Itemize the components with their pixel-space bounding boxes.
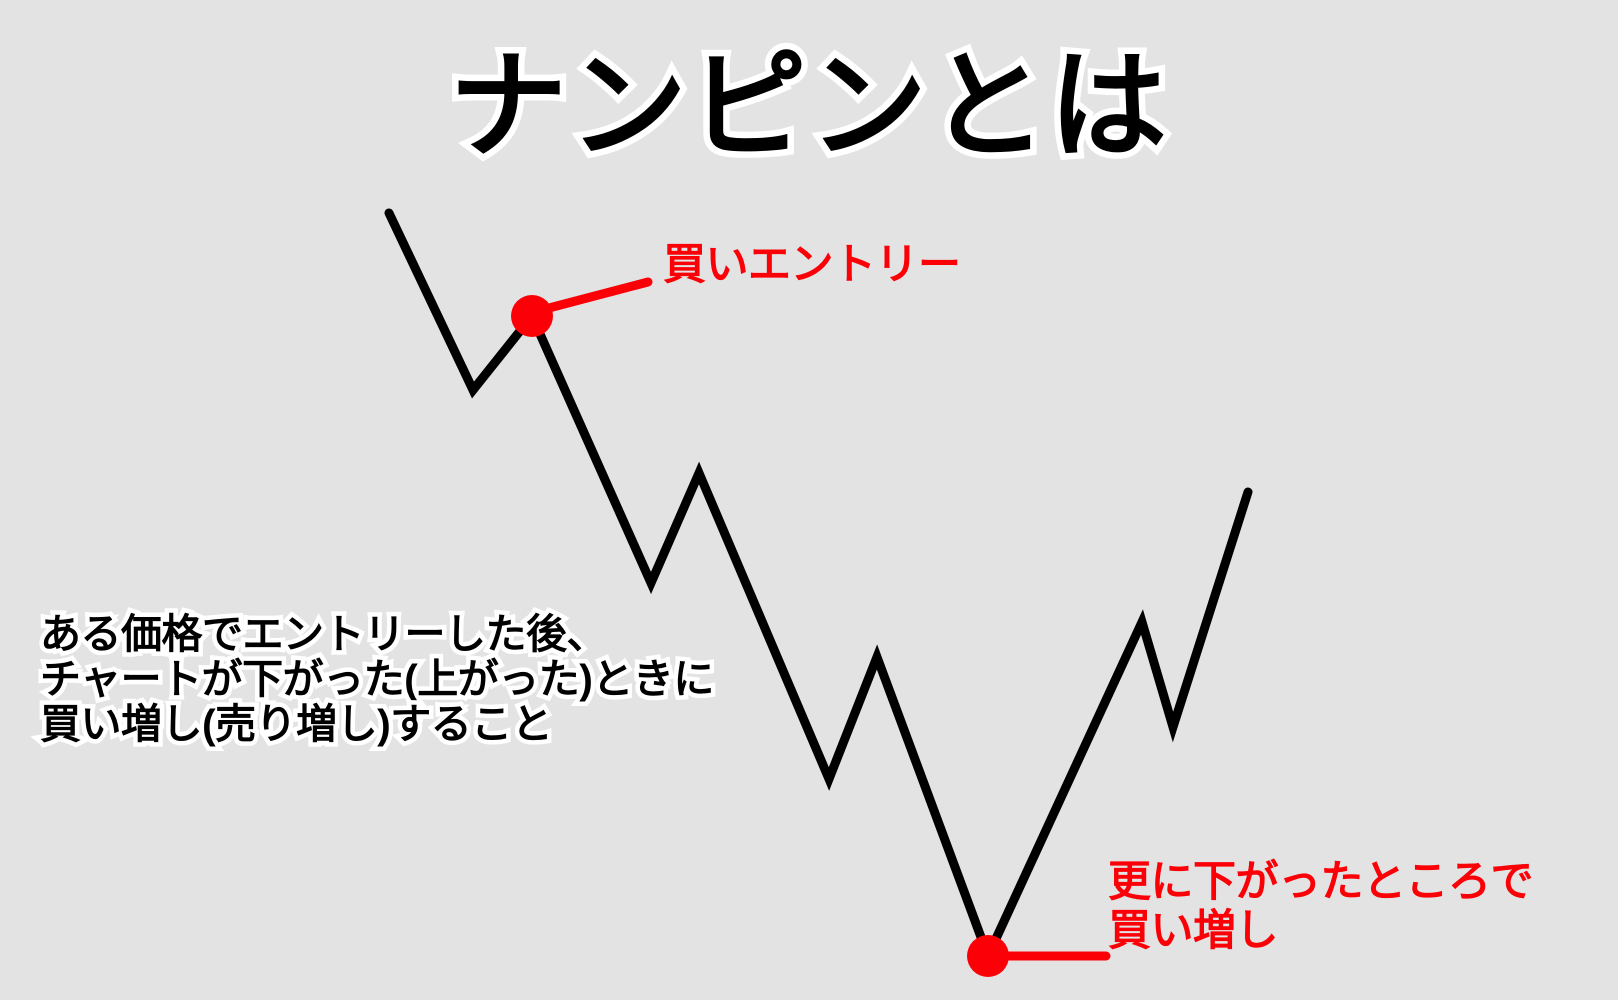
description-line-1: ある価格でエントリーした後、: [40, 612, 714, 657]
description-line-3: 買い増し(売り増し)すること: [40, 702, 714, 747]
description-line-2: チャートが下がった(上がった)ときに: [40, 657, 714, 702]
add-buy-marker-dot[interactable]: [967, 935, 1009, 977]
annotation-add-buy-line-1: 更に下がったところで: [1108, 858, 1533, 907]
price-chart: [0, 0, 1618, 1000]
annotation-add-buy: 更に下がったところで 買い増し: [1108, 858, 1533, 956]
annotation-buy-entry: 買いエントリー: [663, 241, 961, 289]
description-block: ある価格でエントリーした後、 チャートが下がった(上がった)ときに 買い増し(売…: [40, 612, 714, 747]
buy-entry-leader-line: [549, 282, 648, 308]
infographic-canvas: ナンピンとは ある価格でエントリーした後、 チャートが下がった(上がった)ときに…: [0, 0, 1618, 1000]
buy-entry-marker-dot[interactable]: [511, 295, 553, 337]
annotation-add-buy-line-2: 買い増し: [1108, 907, 1533, 956]
